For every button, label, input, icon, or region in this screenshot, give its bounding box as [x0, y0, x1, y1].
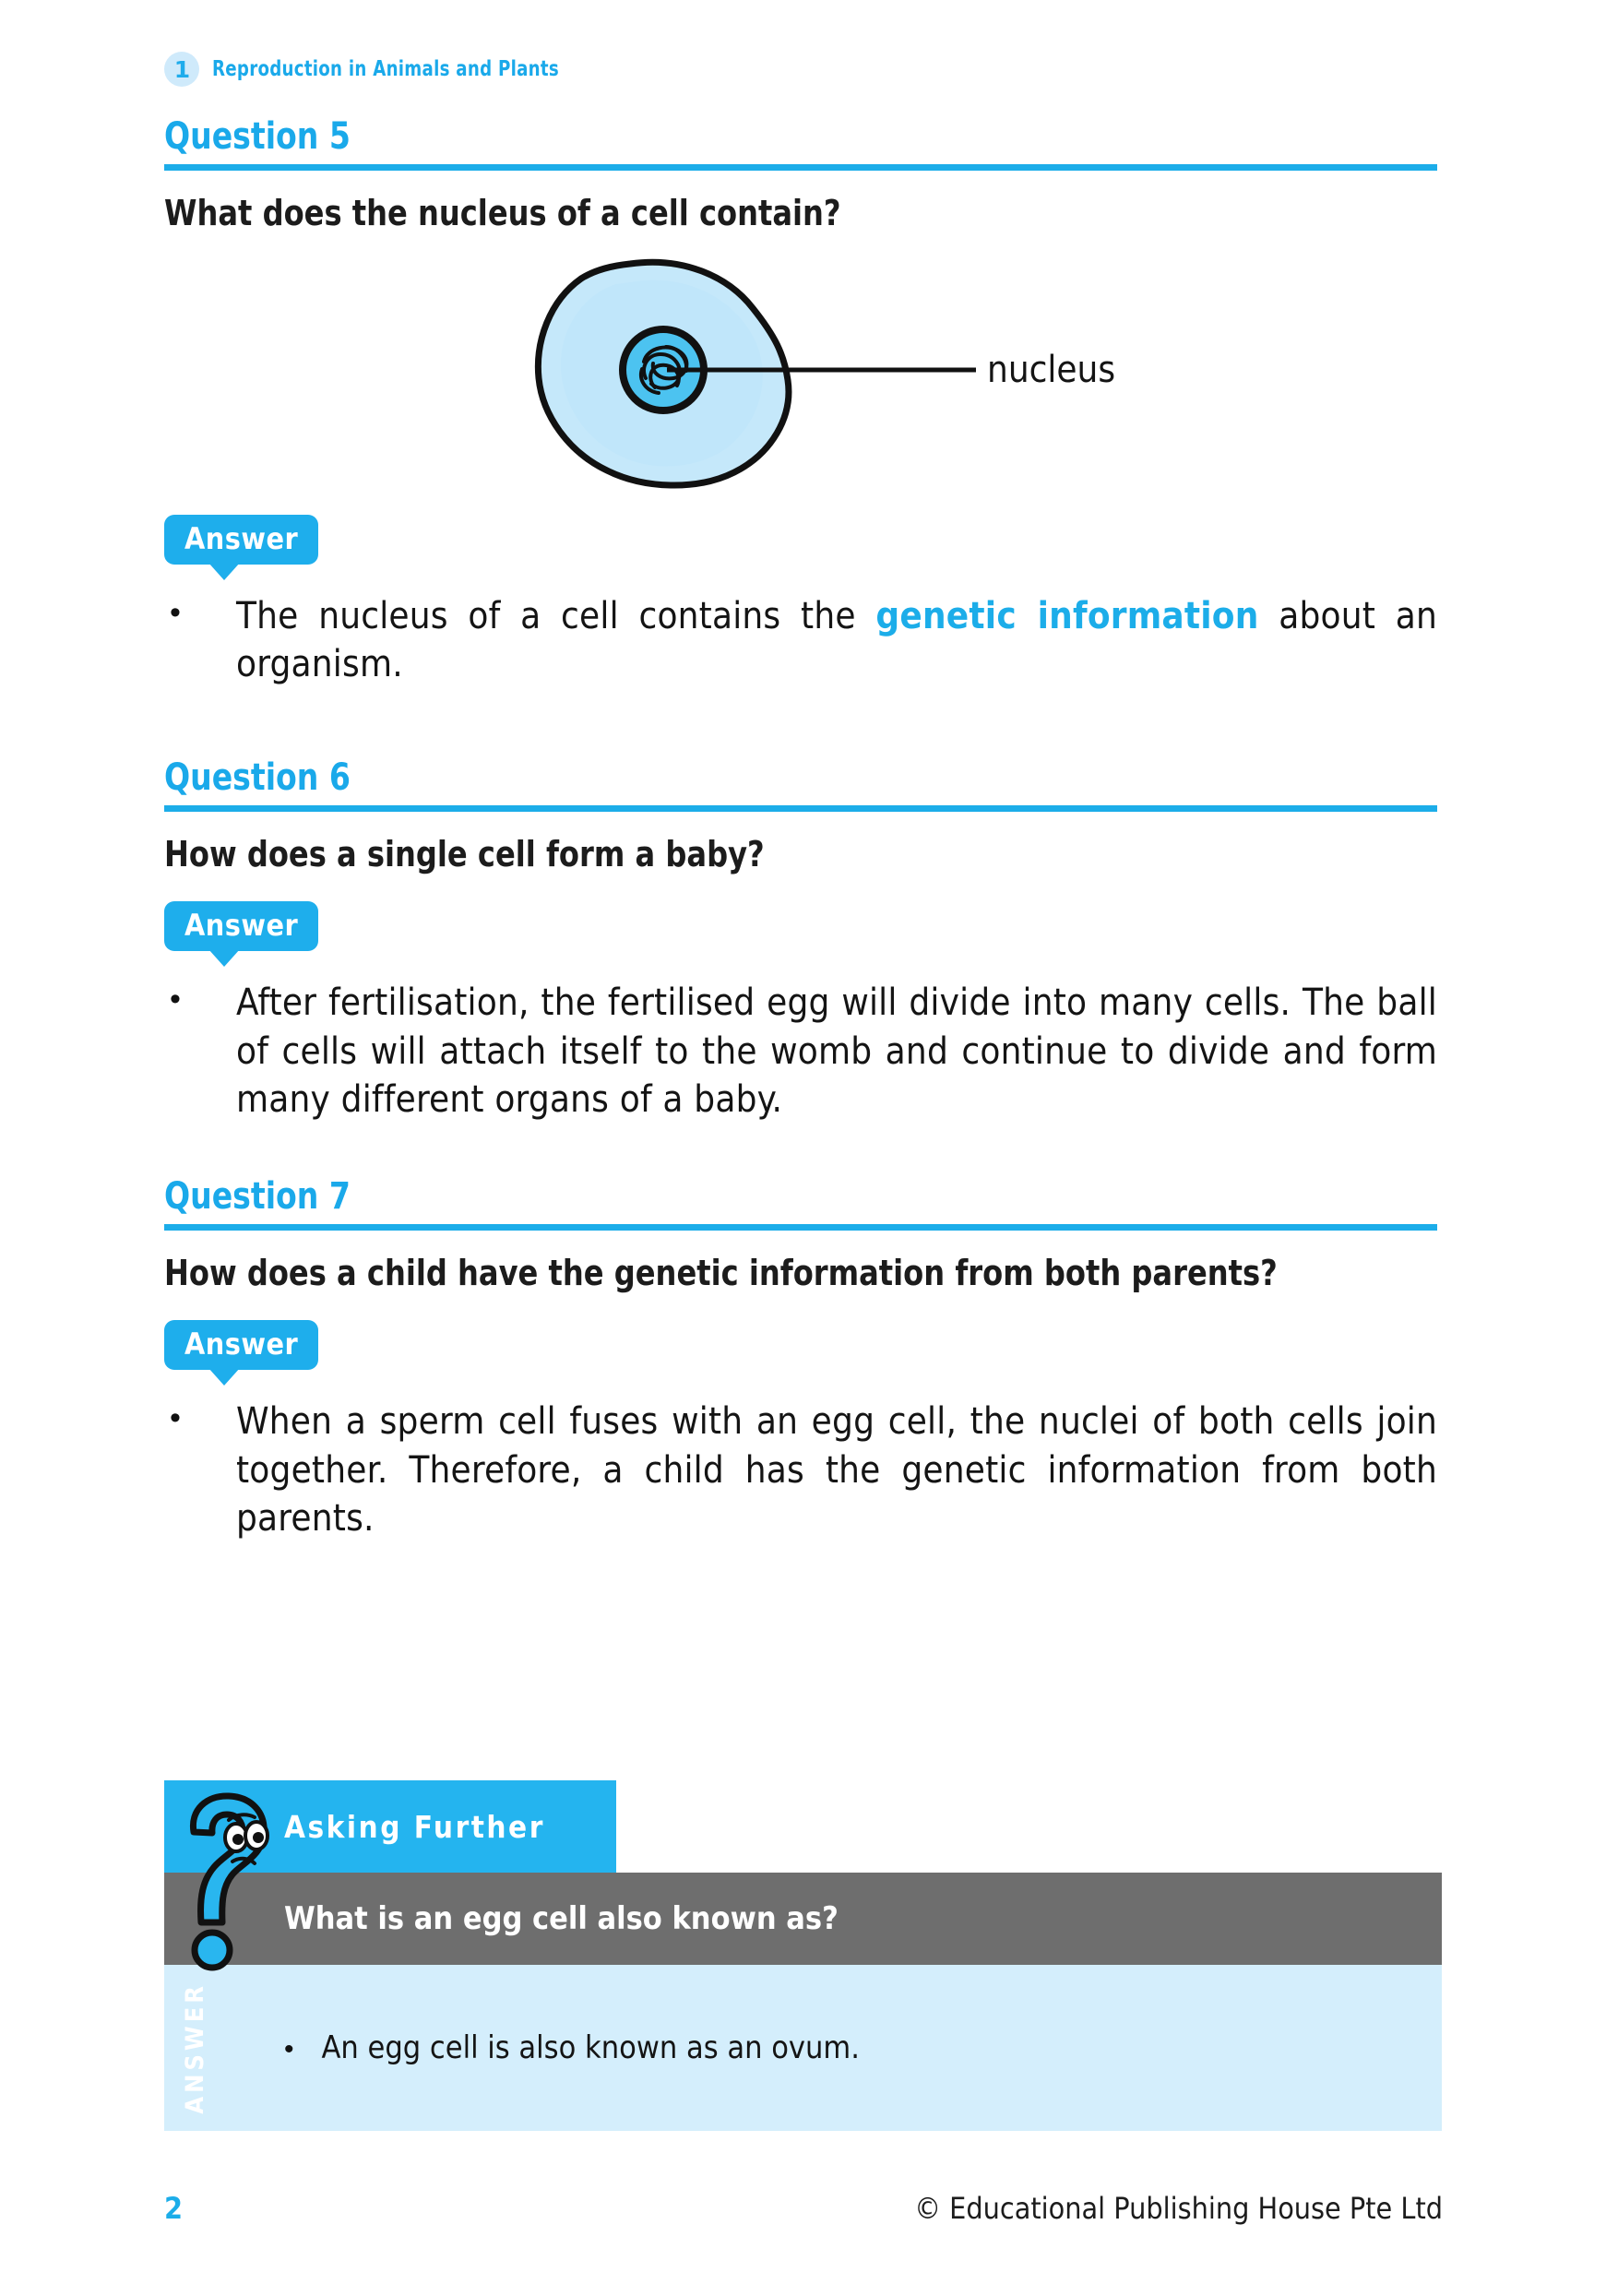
asking-further-question-text: What is an egg cell also known as?	[284, 1900, 839, 1937]
question-block-7: Question 7 How does a child have the gen…	[164, 1178, 1437, 1543]
copyright-notice: © Educational Publishing House Pte Ltd	[914, 2191, 1443, 2226]
asking-further-question-row: What is an egg cell also known as?	[164, 1873, 1442, 1965]
answer-bullet-7: • When a sperm cell fuses with an egg ce…	[164, 1398, 1437, 1543]
running-head: 1 Reproduction in Animals and Plants	[164, 52, 606, 87]
asking-further-answer-text: An egg cell is also known as an ovum.	[322, 2029, 860, 2066]
cell-diagram: nucleus	[164, 244, 1437, 491]
chapter-number-badge: 1	[164, 52, 199, 87]
cell-diagram-svg: nucleus	[164, 244, 1437, 491]
question-6-text: How does a single cell form a baby?	[164, 832, 1437, 877]
bullet-glyph: •	[164, 1398, 236, 1543]
asking-further-answer-row: ANSWER • An egg cell is also known as an…	[164, 1965, 1442, 2131]
bullet-glyph: •	[164, 592, 236, 690]
question-7-text: How does a child have the genetic inform…	[164, 1251, 1437, 1296]
spacer-q6-q7	[164, 1124, 1437, 1178]
answer-tag-label-5: Answer	[164, 515, 318, 565]
answer-tag-label-6: Answer	[164, 901, 318, 951]
answer-tag-5: Answer	[164, 515, 318, 565]
answer-text-5: The nucleus of a cell contains the genet…	[236, 592, 1437, 690]
asking-further-box: Asking Further What is an egg cell also …	[164, 1780, 1442, 2131]
nucleus-label: nucleus	[987, 349, 1115, 391]
answer-text-5-part-a: The nucleus of a cell contains the	[236, 595, 875, 637]
question-6-rule	[164, 805, 1437, 812]
answer-bullet-5: • The nucleus of a cell contains the gen…	[164, 592, 1437, 690]
spacer-q5-q6	[164, 689, 1437, 759]
answer-vertical-label-text: ANSWER	[181, 1982, 209, 2114]
answer-text-5-highlight: genetic information	[875, 595, 1258, 637]
asking-further-header: Asking Further	[164, 1780, 616, 1873]
page-number: 2	[164, 2191, 183, 2226]
page-canvas: 1 Reproduction in Animals and Plants Que…	[0, 0, 1618, 2296]
chapter-title: Reproduction in Animals and Plants	[212, 57, 559, 81]
question-7-heading: Question 7	[164, 1178, 1336, 1215]
answer-vertical-label: ANSWER	[164, 1965, 225, 2131]
question-6-heading: Question 6	[164, 759, 1336, 796]
question-block-6: Question 6 How does a single cell form a…	[164, 759, 1437, 1124]
answer-tag-7: Answer	[164, 1320, 318, 1370]
answer-tag-label-7: Answer	[164, 1320, 318, 1370]
answer-tag-tail-7	[208, 1368, 240, 1386]
answer-tag-6: Answer	[164, 901, 318, 951]
answer-tag-tail-6	[208, 949, 240, 967]
answer-text-6: After fertilisation, the fertilised egg …	[236, 979, 1437, 1124]
bullet-glyph: •	[164, 979, 236, 1124]
answer-bullet-6: • After fertilisation, the fertilised eg…	[164, 979, 1437, 1124]
asking-further-title: Asking Further	[284, 1809, 545, 1845]
answer-tag-tail-5	[208, 563, 240, 580]
question-5-heading: Question 5	[164, 118, 1336, 155]
bullet-glyph: •	[284, 2034, 294, 2065]
answer-text-7: When a sperm cell fuses with an egg cell…	[236, 1398, 1437, 1543]
content-column: Question 5 What does the nucleus of a ce…	[164, 118, 1437, 1543]
question-5-rule	[164, 164, 1437, 171]
question-5-text: What does the nucleus of a cell contain?	[164, 191, 1437, 236]
asking-further-answer-bullet: • An egg cell is also known as an ovum.	[284, 2029, 860, 2066]
question-block-5: Question 5 What does the nucleus of a ce…	[164, 118, 1437, 689]
question-7-rule	[164, 1224, 1437, 1231]
